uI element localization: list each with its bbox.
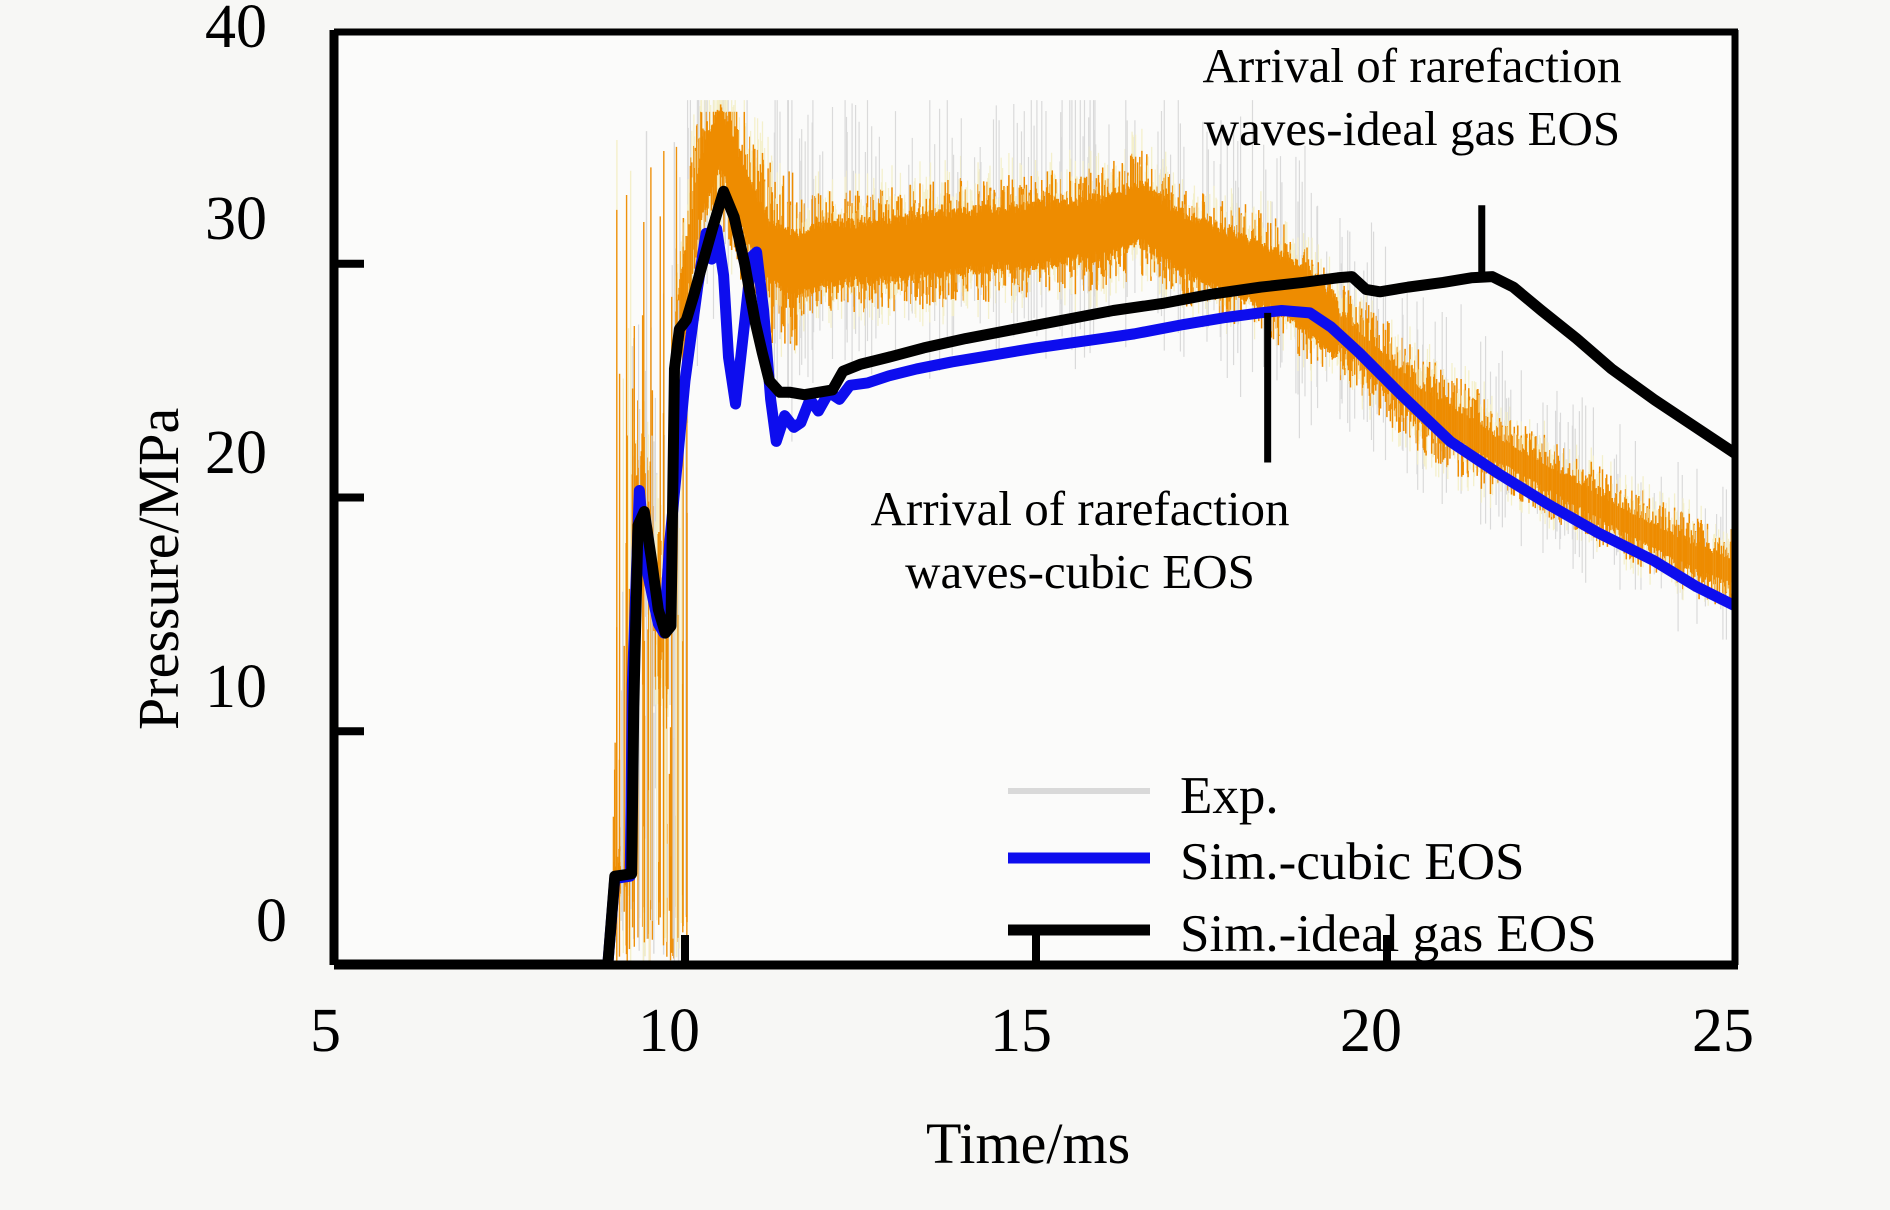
x-axis-title: Time/ms xyxy=(926,1115,1130,1173)
y-tick-label-0: 0 xyxy=(256,890,287,952)
annotation-ideal-gas-line1: Arrival of rarefaction xyxy=(1122,35,1702,98)
legend-label-exp: Exp. xyxy=(1180,770,1279,823)
x-tick-label-5: 5 xyxy=(310,1000,341,1062)
legend-swatch-ideal xyxy=(1000,894,1160,966)
x-tick-label-10: 10 xyxy=(638,1000,700,1062)
annotation-cubic-line2: waves-cubic EOS xyxy=(800,541,1360,604)
chart-figure: 40 30 20 10 0 5 10 15 20 25 Pressure/MPa… xyxy=(0,0,1890,1210)
legend-swatch-exp xyxy=(1000,760,1160,822)
annotation-cubic-line1: Arrival of rarefaction xyxy=(800,478,1360,541)
annotation-ideal-gas: Arrival of rarefaction waves-ideal gas E… xyxy=(1122,35,1702,160)
y-tick-label-10: 10 xyxy=(205,656,267,718)
annotation-cubic: Arrival of rarefaction waves-cubic EOS xyxy=(800,478,1360,603)
x-tick-label-15: 15 xyxy=(990,1000,1052,1062)
y-axis-title: Pressure/MPa xyxy=(130,408,188,730)
pressure-time-plot xyxy=(0,0,1890,1210)
y-tick-label-20: 20 xyxy=(205,422,267,484)
y-tick-label-40: 40 xyxy=(205,0,267,58)
x-tick-label-20: 20 xyxy=(1340,1000,1402,1062)
y-tick-label-30: 30 xyxy=(205,188,267,250)
legend-label-cubic: Sim.-cubic EOS xyxy=(1180,836,1524,889)
annotation-ideal-gas-line2: waves-ideal gas EOS xyxy=(1122,98,1702,161)
x-tick-label-25: 25 xyxy=(1692,1000,1754,1062)
legend-swatch-cubic xyxy=(1000,822,1160,894)
legend-label-ideal: Sim.-ideal gas EOS xyxy=(1180,908,1597,961)
